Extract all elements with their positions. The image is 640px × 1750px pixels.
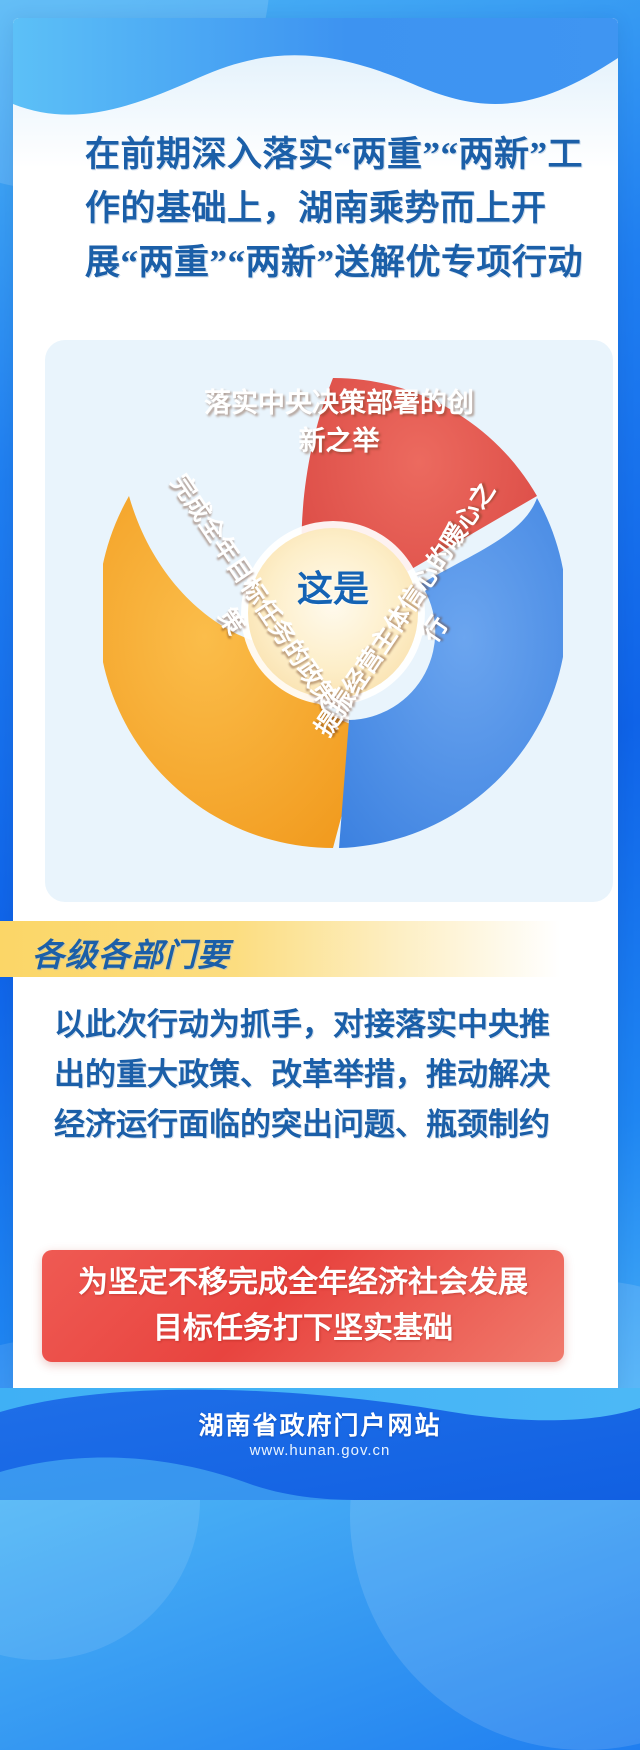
section-heading: 各级各部门要 — [32, 930, 230, 976]
footer-site-title: 湖南省政府门户网站 — [0, 1406, 640, 1442]
page-headline: 在前期深入落实“两重”“两新”工作的基础上，湖南乘势而上开展“两重”“两新”送解… — [85, 128, 595, 290]
pinwheel-diagram: 落实中央决策部署的创新之举 完成全年目标任务的政策之策 提振经营主体信心的暖心之… — [103, 348, 563, 888]
content-card: 在前期深入落实“两重”“两新”工作的基础上，湖南乘势而上开展“两重”“两新”送解… — [13, 18, 618, 1398]
wheel-center-label: 这是 — [253, 560, 413, 612]
section-body-text: 以此次行动为抓手，对接落实中央推出的重大政策、改革举措，推动解决经济运行面临的突… — [54, 1000, 574, 1150]
site-footer: 湖南省政府门户网站 www.hunan.gov.cn — [0, 1388, 640, 1500]
wheel-segment-label-red: 落实中央决策部署的创新之举 — [199, 384, 479, 460]
conclusion-banner-text: 为坚定不移完成全年经济社会发展目标任务打下坚实基础 — [68, 1260, 538, 1352]
footer-site-url: www.hunan.gov.cn — [0, 1442, 640, 1459]
wheel-panel: 落实中央决策部署的创新之举 完成全年目标任务的政策之策 提振经营主体信心的暖心之… — [45, 340, 613, 902]
conclusion-banner: 为坚定不移完成全年经济社会发展目标任务打下坚实基础 — [42, 1250, 564, 1362]
